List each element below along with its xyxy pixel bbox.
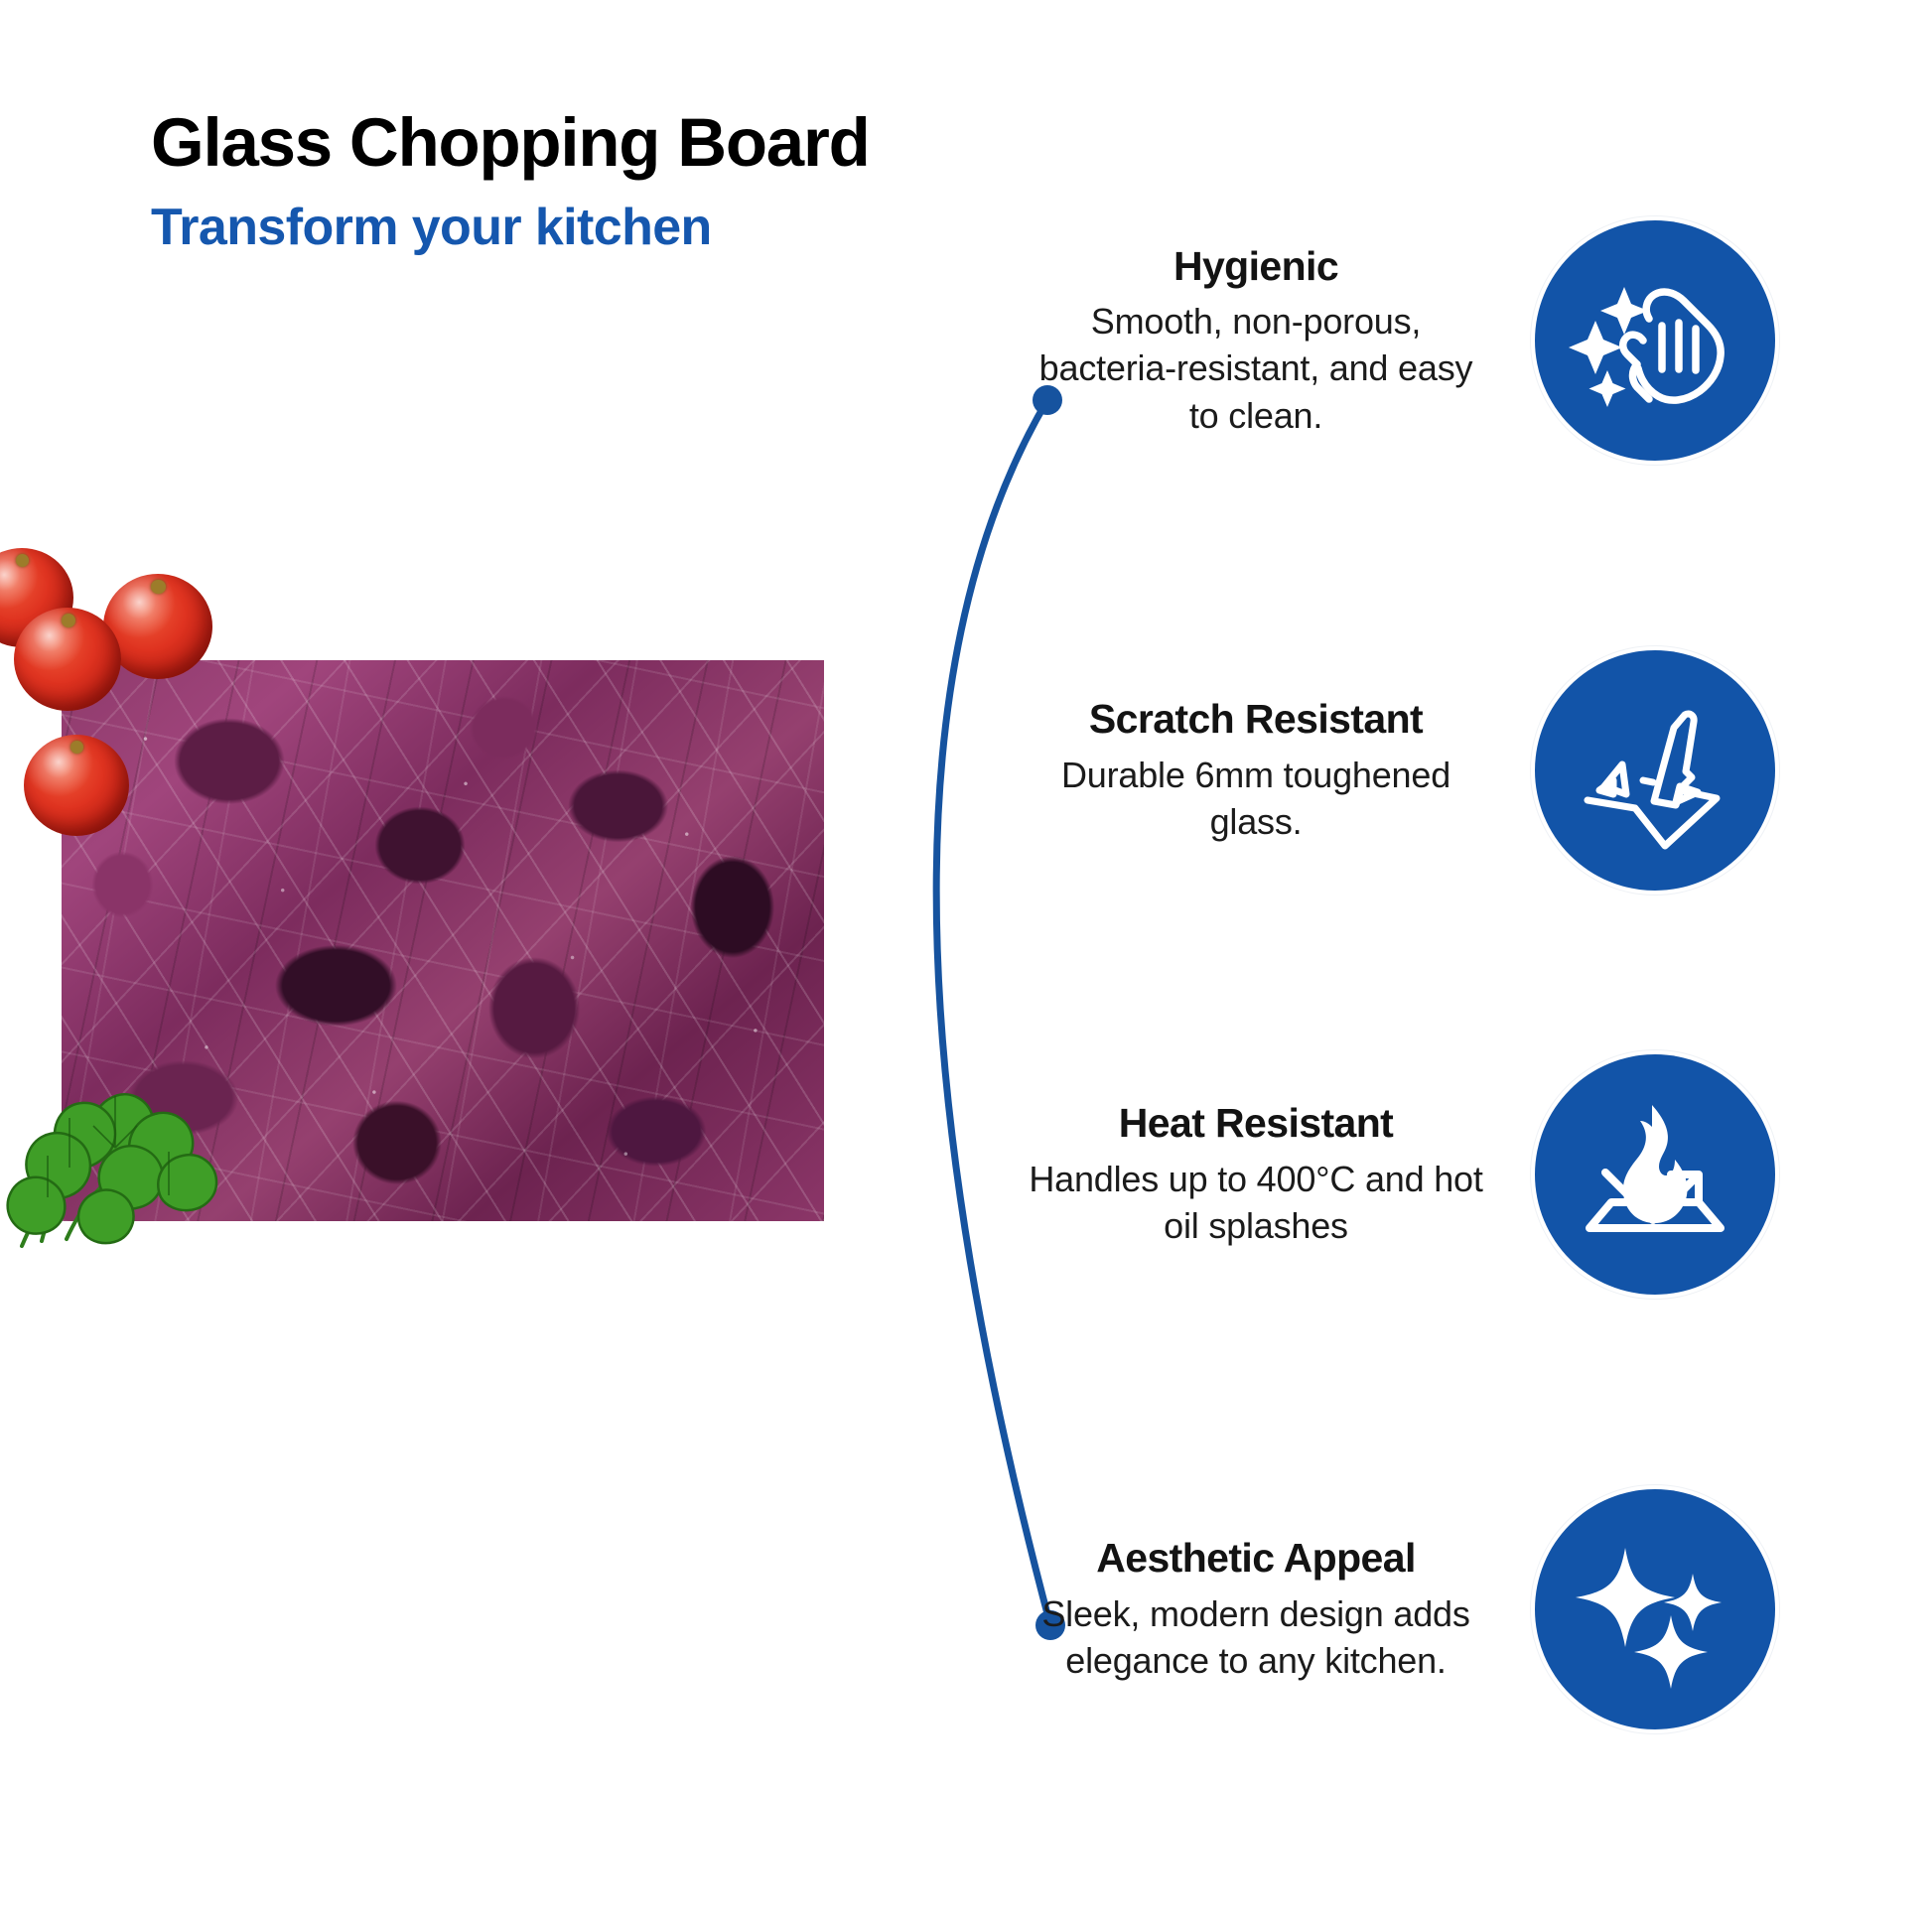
sparkles-icon [1568,1522,1742,1697]
parsley-herb [0,1003,240,1251]
feature-icon-badge[interactable] [1535,1054,1775,1295]
feature-title: Aesthetic Appeal [1023,1534,1489,1582]
feature-description: Smooth, non-porous, bacteria-resistant, … [1023,298,1489,440]
cherry-tomato [14,608,121,711]
feature-text-block: Aesthetic Appeal Sleek, modern design ad… [1023,1534,1489,1684]
feature-title: Hygienic [1023,242,1489,290]
feature-hygienic[interactable]: Hygienic Smooth, non-porous, bacteria-re… [1023,220,1775,461]
knife-impact-surface-icon [1568,683,1742,858]
feature-heat-resistant[interactable]: Heat Resistant Handles up to 400°C and h… [1023,1054,1775,1295]
feature-icon-badge[interactable] [1535,650,1775,891]
feature-title: Heat Resistant [1023,1099,1489,1147]
infographic-canvas: Glass Chopping Board Transform your kitc… [0,0,1932,1932]
feature-description: Durable 6mm toughened glass. [1023,752,1489,846]
feature-description: Handles up to 400°C and hot oil splashes [1023,1156,1489,1250]
feature-icon-badge[interactable] [1535,220,1775,461]
product-image-group [0,616,894,1251]
page-title: Glass Chopping Board [151,107,870,179]
feature-text-block: Heat Resistant Handles up to 400°C and h… [1023,1099,1489,1249]
feature-scratch-resistant[interactable]: Scratch Resistant Durable 6mm toughened … [1023,650,1775,891]
cherry-tomato [24,735,129,836]
flame-deflect-arrow-icon [1568,1087,1742,1262]
feature-aesthetic-appeal[interactable]: Aesthetic Appeal Sleek, modern design ad… [1023,1489,1775,1729]
page-subtitle: Transform your kitchen [151,201,870,255]
feature-text-block: Scratch Resistant Durable 6mm toughened … [1023,695,1489,845]
headline-block: Glass Chopping Board Transform your kitc… [151,107,870,255]
hand-wipe-sparkle-icon [1568,253,1742,428]
feature-icon-badge[interactable] [1535,1489,1775,1729]
feature-text-block: Hygienic Smooth, non-porous, bacteria-re… [1023,242,1489,440]
feature-title: Scratch Resistant [1023,695,1489,743]
feature-description: Sleek, modern design adds elegance to an… [1023,1590,1489,1685]
